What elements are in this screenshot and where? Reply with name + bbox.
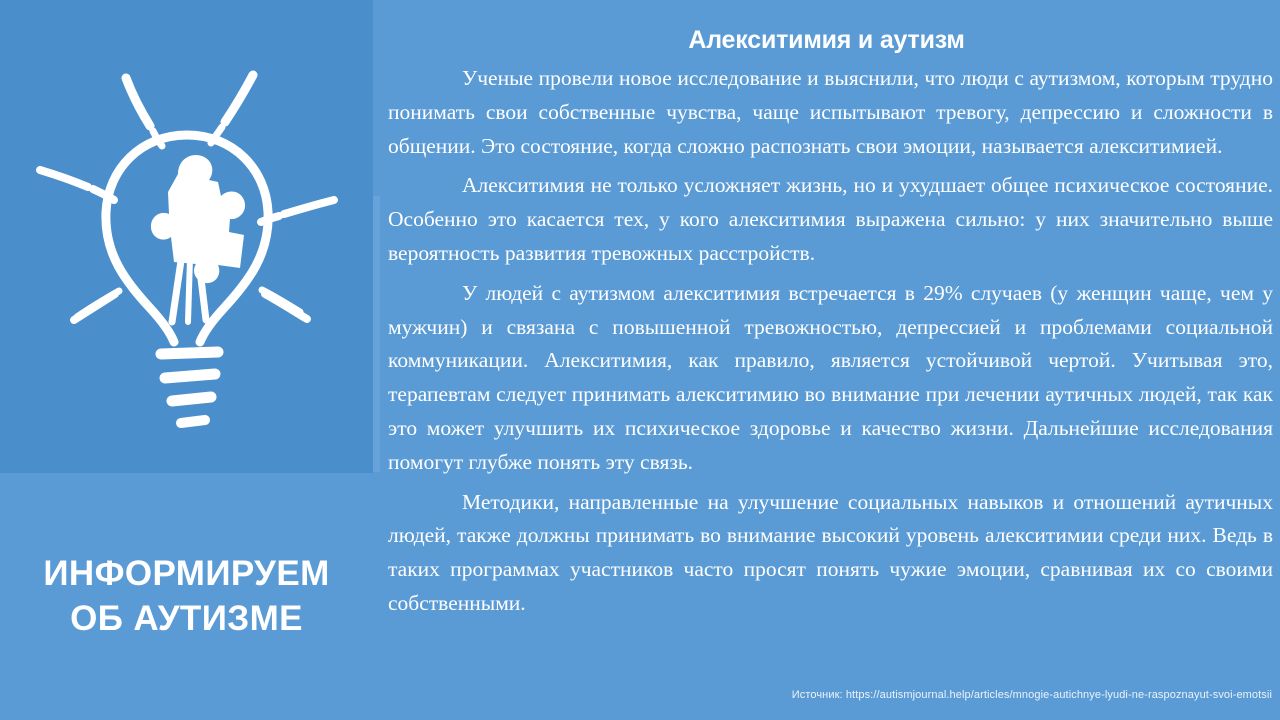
left-column: ИНФОРМИРУЕМ ОБ АУТИЗМЕ <box>0 0 373 720</box>
lightbulb-with-puzzle-piece-icon <box>22 22 352 452</box>
article-title: Алекситимия и аутизм <box>373 26 1280 55</box>
article-paragraph: Алекситимия не только усложняет жизнь, н… <box>388 169 1273 270</box>
lightbulb-illustration <box>0 0 373 473</box>
source-attribution: Источник: https://autismjournal.help/art… <box>792 689 1272 701</box>
article-column: Алекситимия и аутизм Ученые провели ново… <box>373 0 1280 720</box>
puzzle-piece-shape <box>150 154 244 282</box>
article-paragraph: Методики, направленные на улучшение соци… <box>388 486 1273 621</box>
left-edge-band <box>373 196 380 472</box>
caption-line-1: ИНФОРМИРУЕМ <box>43 552 329 597</box>
slide-root: ИНФОРМИРУЕМ ОБ АУТИЗМЕ Алекситимия и аут… <box>0 0 1280 720</box>
article-paragraph: Ученые провели новое исследование и выяс… <box>388 62 1273 163</box>
article-body: Ученые провели новое исследование и выяс… <box>388 62 1273 621</box>
left-caption: ИНФОРМИРУЕМ ОБ АУТИЗМЕ <box>0 473 373 720</box>
caption-line-2: ОБ АУТИЗМЕ <box>70 597 303 642</box>
article-paragraph: У людей с аутизмом алекситимия встречает… <box>388 277 1273 480</box>
